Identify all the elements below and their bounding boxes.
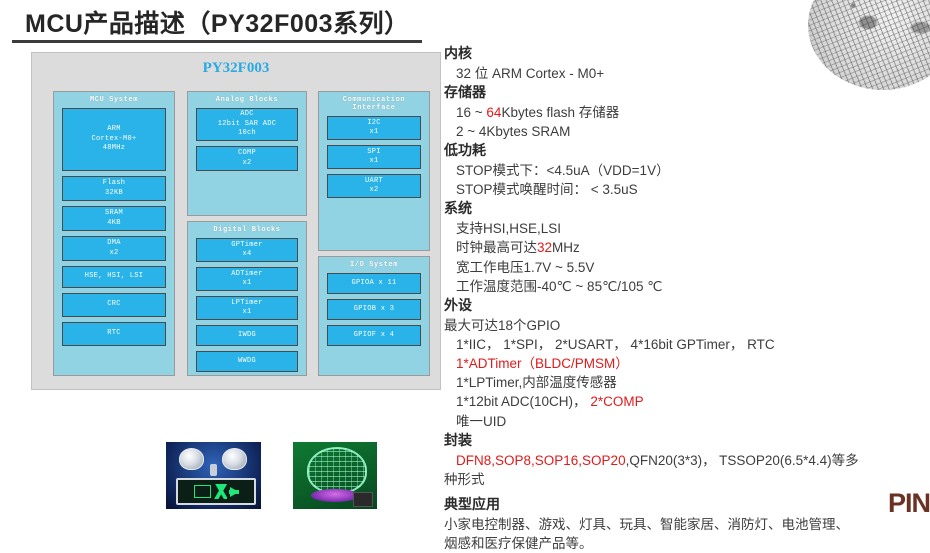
text: ,QFN20(3*3)， TSSOP20(6.5*4.4)等多 [626, 453, 859, 468]
mcu-block-diagram: PY32F003 MCU System ARM Cortex-M0+ 48MHz… [31, 52, 441, 390]
block-line: x1 [369, 128, 378, 137]
spec-apps-line-2: 烟感和医疗保健产品等。 [444, 534, 914, 553]
block-line: COMP [238, 149, 256, 158]
group-analog-blocks: Analog Blocks ADC 12bit SAR ADC 10ch COM… [187, 91, 307, 216]
product-photo-emergency-exit-light [166, 442, 261, 509]
block-rtc: RTC [62, 322, 165, 346]
block-adtimer: ADTimer x1 [196, 267, 297, 291]
company-logo: PIN [888, 488, 930, 514]
block-sram: SRAM 4KB [62, 206, 165, 231]
specification-panel: 内核 32 位 ARM Cortex - M0+ 存储器 16 ~ 64Kbyt… [444, 44, 914, 553]
spec-memory-line-1: 16 ~ 64Kbytes flash 存储器 [444, 103, 914, 122]
block-line: LPTimer [231, 299, 263, 308]
block-line: ADTimer [231, 270, 263, 279]
product-photo-3d-led-lamp [293, 442, 377, 509]
block-line: I2C [367, 119, 381, 128]
block-lptimer: LPTimer x1 [196, 296, 297, 320]
highlight-32: 32 [537, 240, 552, 255]
text: MHz [552, 240, 580, 255]
block-line: DMA [107, 239, 121, 248]
group-digital-blocks: Digital Blocks GPTimer x4 ADTimer x1 LPT… [187, 221, 307, 376]
text: 1*12bit ADC(10CH)， [456, 394, 590, 409]
exit-sign [176, 478, 256, 505]
spec-apps-line-1: 小家电控制器、游戏、灯具、玩具、智能家居、消防灯、电池管理、 [444, 515, 914, 534]
spec-periph-line-4: 1*LPTimer,内部温度传感器 [444, 373, 914, 392]
block-line: CRC [107, 300, 121, 309]
block-line: x2 [109, 249, 118, 258]
spec-periph-line-3: 1*ADTimer（BLDC/PMSM） [444, 354, 914, 373]
group-title: Analog Blocks [188, 96, 306, 104]
spec-heading-system: 系统 [444, 199, 914, 219]
block-flash: Flash 32KB [62, 176, 165, 201]
block-i2c: I2C x1 [327, 116, 422, 140]
spec-periph-line-5: 1*12bit ADC(10CH)， 2*COMP [444, 392, 914, 411]
block-line: x1 [369, 157, 378, 166]
block-crc: CRC [62, 293, 165, 317]
block-line: 4KB [107, 219, 121, 228]
lamp-wireframe-shade [307, 447, 367, 494]
block-line: GPTimer [231, 241, 263, 250]
block-gptimer: GPTimer x4 [196, 238, 297, 262]
block-clocks: HSE, HSI, LSI [62, 266, 165, 288]
block-line: Flash [103, 179, 126, 188]
diagram-title: PY32F003 [32, 60, 440, 77]
group-title: Communication Interface [319, 96, 429, 112]
group-mcu-system: MCU System ARM Cortex-M0+ 48MHz Flash 32… [53, 91, 175, 376]
block-line: WWDG [238, 357, 256, 366]
group-title: Digital Blocks [188, 226, 306, 234]
block-line: HSE, HSI, LSI [85, 272, 144, 281]
block-line: 12bit SAR ADC [218, 120, 277, 129]
block-line: 10ch [238, 129, 256, 138]
lamp-stalk [210, 464, 217, 476]
spec-heading-peripherals: 外设 [444, 296, 914, 316]
block-line: 48MHz [103, 144, 126, 153]
spec-periph-line-6: 唯一UID [444, 412, 914, 431]
block-line: IWDG [238, 331, 256, 340]
spec-power-line-1: STOP模式下：<4.5uA（VDD=1V） [444, 161, 914, 180]
spec-heading-package: 封装 [444, 431, 914, 451]
spec-heading-core: 内核 [444, 44, 914, 64]
arrow-right-icon [230, 487, 239, 497]
exit-sign-text-box [194, 485, 211, 498]
running-man-icon [214, 484, 227, 499]
block-line: GPIOB x 3 [354, 305, 395, 314]
group-communication-interface: Communication Interface I2C x1 SPI x1 UA… [318, 91, 430, 251]
highlight-packages: DFN8,SOP8,SOP16,SOP20 [456, 453, 626, 468]
block-gpiof: GPIOF x 4 [327, 325, 422, 346]
block-spi: SPI x1 [327, 145, 422, 169]
block-iwdg: IWDG [196, 325, 297, 346]
text: 16 ~ [456, 105, 486, 120]
block-line: 32KB [105, 189, 123, 198]
spec-heading-power: 低功耗 [444, 141, 914, 161]
block-line: GPIOF x 4 [354, 331, 395, 340]
block-line: GPIOA x 11 [351, 279, 396, 288]
block-line: UART [365, 177, 383, 186]
spec-heading-memory: 存储器 [444, 83, 914, 103]
lamp-head-left [179, 448, 204, 470]
block-dma: DMA x2 [62, 236, 165, 261]
spec-core-line-1: 32 位 ARM Cortex - M0+ [444, 64, 914, 83]
block-arm-core: ARM Cortex-M0+ 48MHz [62, 108, 165, 171]
block-line: x4 [242, 250, 251, 259]
spec-package-line-1: DFN8,SOP8,SOP16,SOP20,QFN20(3*3)， TSSOP2… [444, 451, 914, 470]
highlight-2comp: 2*COMP [590, 394, 643, 409]
block-line: x2 [369, 186, 378, 195]
block-line: x2 [242, 159, 251, 168]
spec-system-line-4: 工作温度范围-40℃ ~ 85℃/105 ℃ [444, 277, 914, 296]
block-line: x1 [242, 279, 251, 288]
block-line: SRAM [105, 209, 123, 218]
title-underline [12, 40, 422, 43]
page-title: MCU产品描述（PY32F003系列） [25, 4, 410, 40]
block-adc: ADC 12bit SAR ADC 10ch [196, 108, 297, 141]
block-line: Cortex-M0+ [91, 135, 136, 144]
block-gpiob: GPIOB x 3 [327, 299, 422, 320]
spec-system-line-3: 宽工作电压1.7V ~ 5.5V [444, 258, 914, 277]
spec-system-line-1: 支持HSI,HSE,LSI [444, 219, 914, 238]
block-line: RTC [107, 329, 121, 338]
text: 时钟最高可达 [456, 240, 537, 255]
block-gpioa: GPIOA x 11 [327, 273, 422, 294]
spec-system-line-2: 时钟最高可达32MHz [444, 238, 914, 257]
lamp-remote-control [353, 492, 373, 507]
spec-periph-line-1: 最大可达18个GPIO [444, 316, 914, 335]
lamp-head-right [222, 448, 247, 470]
highlight-64: 64 [486, 105, 501, 120]
group-title: MCU System [54, 96, 174, 104]
block-comp: COMP x2 [196, 146, 297, 171]
spec-power-line-2: STOP模式唤醒时间： < 3.5uS [444, 180, 914, 199]
spec-heading-applications: 典型应用 [444, 495, 914, 515]
spec-periph-line-2: 1*IIC， 1*SPI， 2*USART， 4*16bit GPTimer， … [444, 335, 914, 354]
lamp-base [311, 489, 359, 502]
spec-package-line-2: 种形式 [444, 470, 914, 489]
group-io-system: I/O System GPIOA x 11 GPIOB x 3 GPIOF x … [318, 256, 430, 376]
block-uart: UART x2 [327, 174, 422, 198]
block-line: x1 [242, 308, 251, 317]
block-line: ARM [107, 125, 121, 134]
block-line: ADC [240, 110, 254, 119]
text: Kbytes flash 存储器 [501, 105, 619, 120]
spec-memory-line-2: 2 ~ 4Kbytes SRAM [444, 122, 914, 141]
block-line: SPI [367, 148, 381, 157]
group-title: I/O System [319, 261, 429, 269]
block-wwdg: WWDG [196, 351, 297, 372]
